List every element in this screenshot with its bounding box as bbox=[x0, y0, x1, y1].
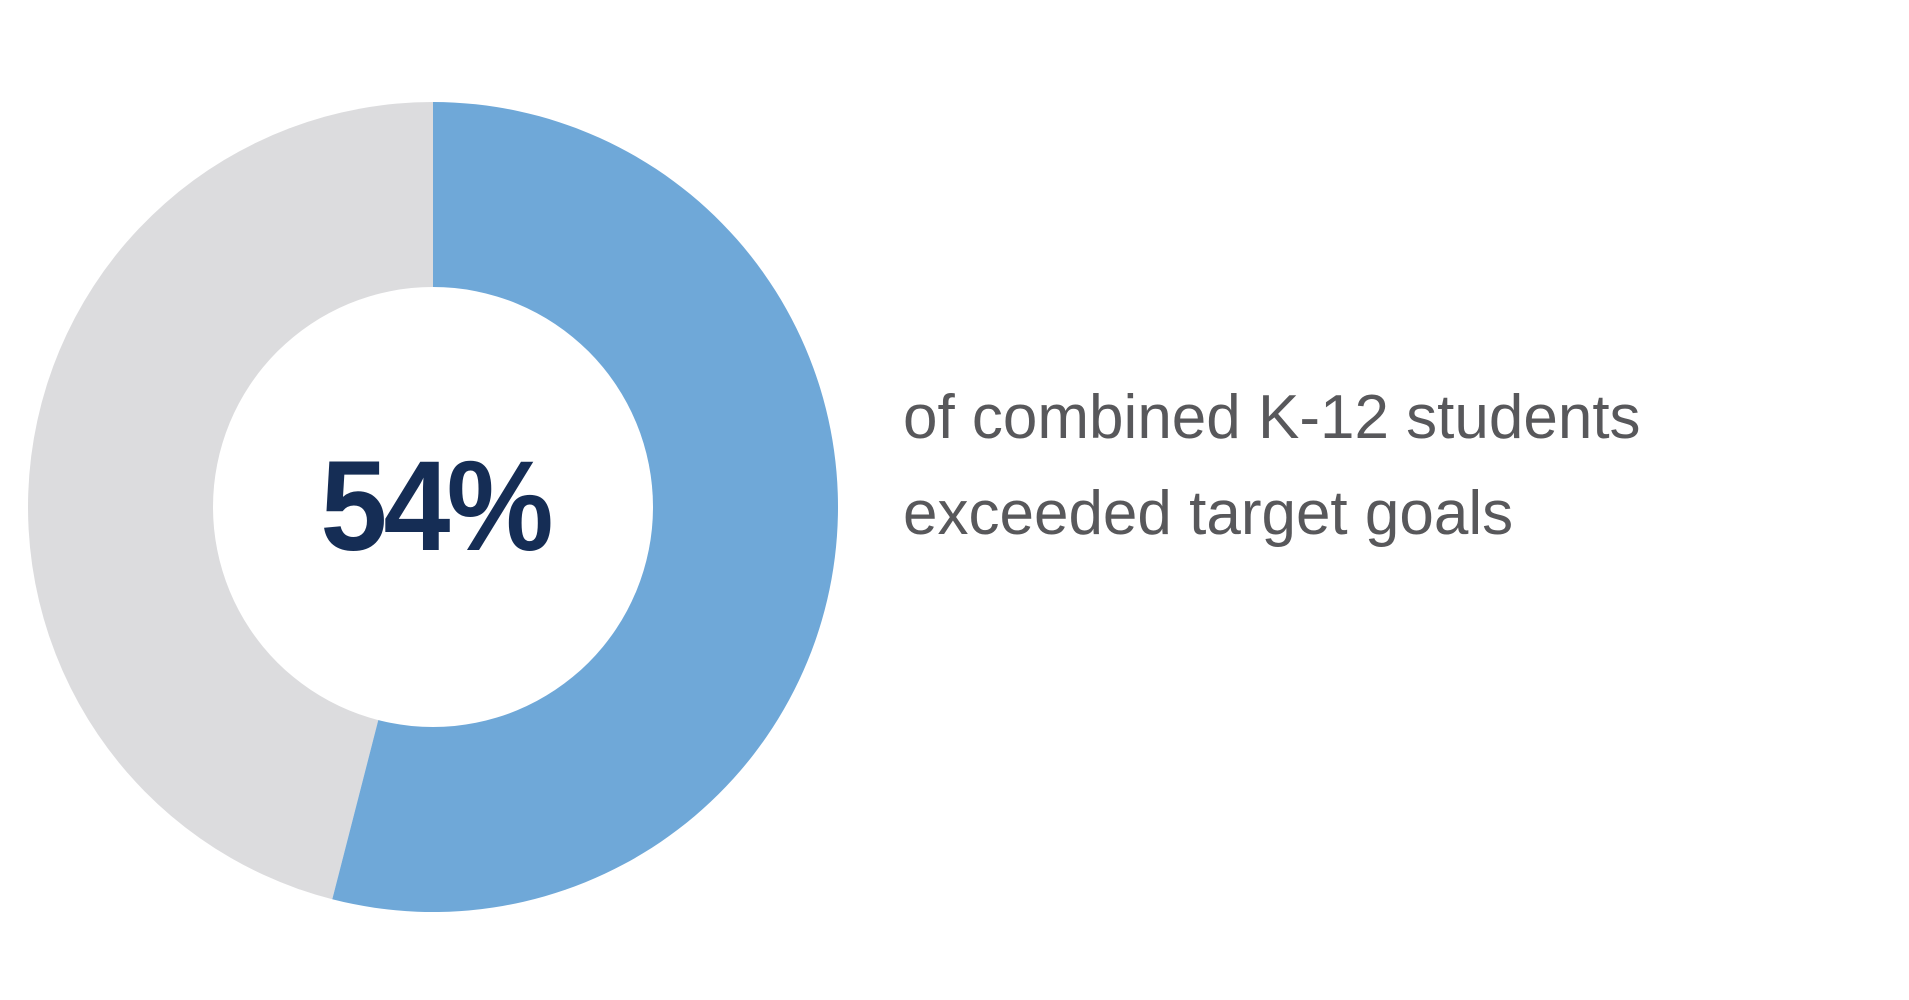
caption-line-1: of combined K-12 students bbox=[903, 370, 1863, 466]
infographic-stat-callout: 54% of combined K-12 students exceeded t… bbox=[0, 0, 1909, 1000]
caption-block: of combined K-12 students exceeded targe… bbox=[903, 370, 1863, 562]
donut-hole bbox=[213, 287, 653, 727]
donut-chart-svg bbox=[28, 102, 838, 912]
caption-line-2: exceeded target goals bbox=[903, 466, 1863, 562]
donut-chart bbox=[28, 102, 838, 912]
